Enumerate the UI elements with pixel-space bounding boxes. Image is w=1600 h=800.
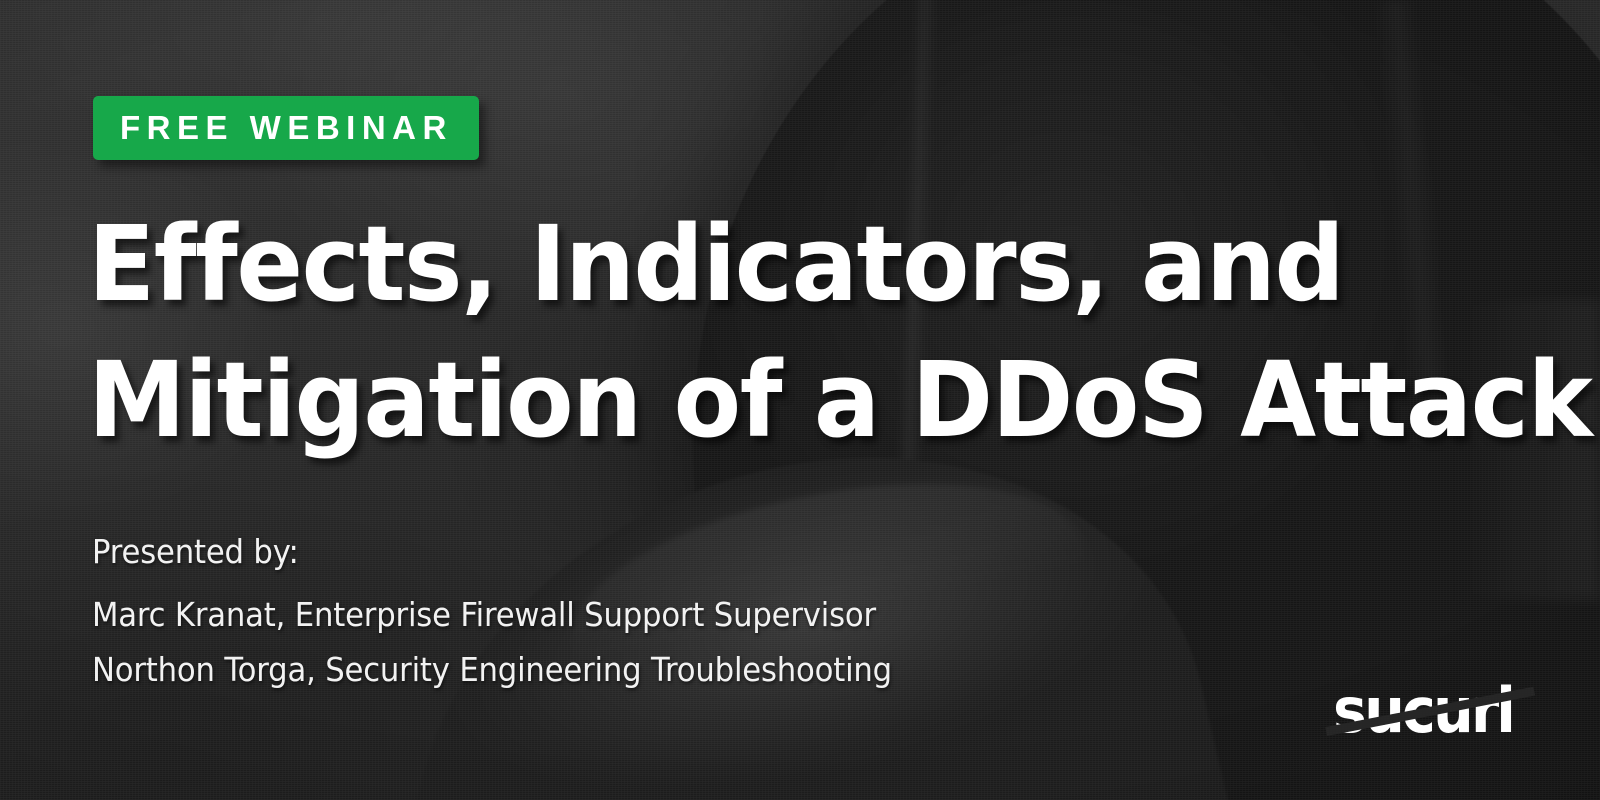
page-title: Effects, Indicators, and Mitigation of a… — [88, 196, 1558, 468]
free-webinar-badge: FREE WEBINAR — [93, 96, 479, 160]
webinar-banner: FREE WEBINAR Effects, Indicators, and Mi… — [0, 0, 1600, 800]
banner-content: FREE WEBINAR Effects, Indicators, and Mi… — [0, 0, 1600, 800]
presenter-name-1: Marc Kranat, Enterprise Firewall Support… — [92, 587, 892, 642]
presented-by-label: Presented by: — [92, 524, 892, 579]
headline-line-2: Mitigation of a DDoS Attack — [88, 332, 1477, 468]
sucuri-logo: sucuri — [1333, 676, 1525, 742]
free-webinar-badge-label: FREE WEBINAR — [120, 111, 453, 144]
headline-line-1: Effects, Indicators, and — [88, 196, 1477, 332]
presenters-block: Presented by: Marc Kranat, Enterprise Fi… — [92, 524, 952, 697]
presenter-name-2: Northon Torga, Security Engineering Trou… — [92, 642, 892, 697]
